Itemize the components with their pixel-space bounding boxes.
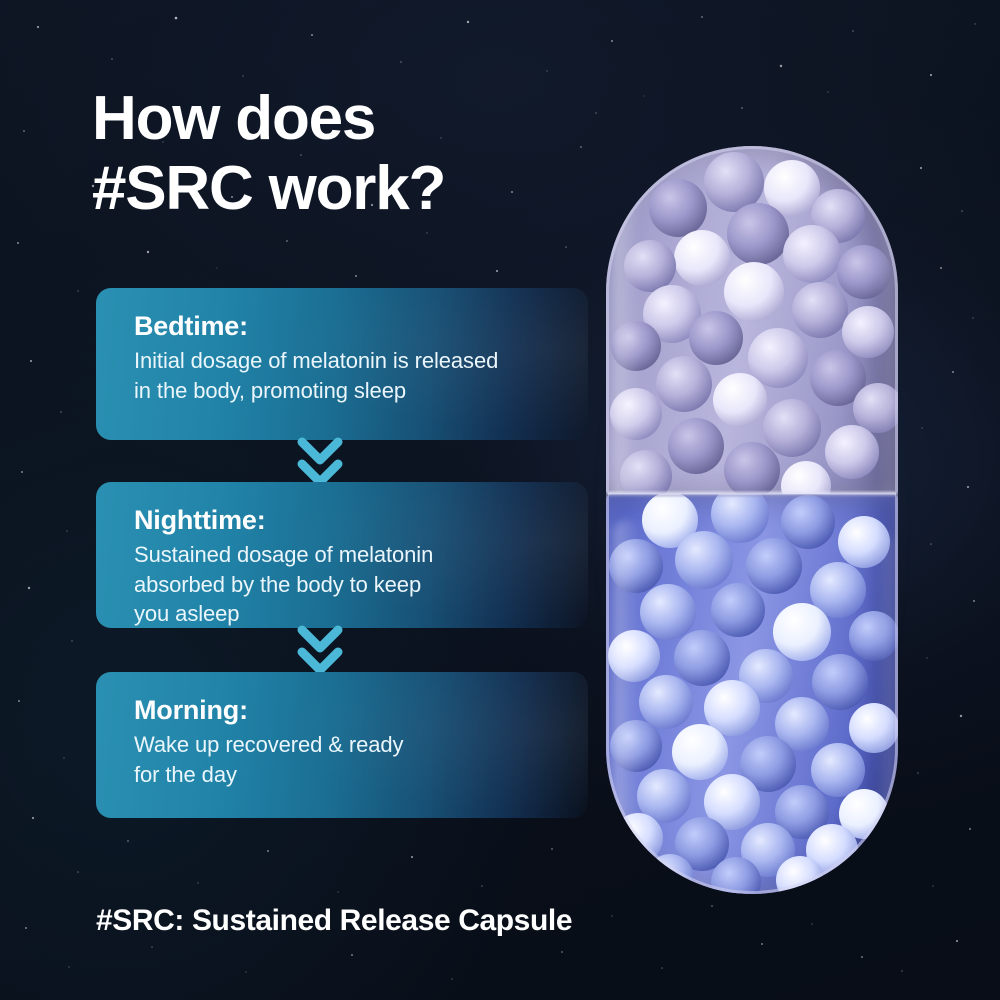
capsule-gloss-right-bottom: [876, 534, 894, 894]
capsule-gloss-left-bottom: [614, 520, 640, 894]
capsule-top-half: [606, 146, 898, 496]
step-card-morning[interactable]: Morning: Wake up recovered & ready for t…: [96, 672, 588, 818]
capsule-top-beads: [606, 146, 898, 496]
capsule-seam: [608, 490, 896, 498]
step-card-title: Nighttime:: [134, 504, 562, 536]
capsule-gloss-left: [614, 172, 640, 496]
footer-caption: #SRC: Sustained Release Capsule: [96, 904, 572, 938]
step-card-title: Bedtime:: [134, 310, 562, 342]
step-card-bedtime[interactable]: Bedtime: Initial dosage of melatonin is …: [96, 288, 588, 440]
capsule-bottom-beads: [606, 494, 898, 894]
capsule-gloss-right: [876, 186, 894, 496]
capsule-illustration: [606, 146, 898, 894]
step-card-nighttime[interactable]: Nighttime: Sustained dosage of melatonin…: [96, 482, 588, 628]
step-card-body: Wake up recovered & ready for the day: [134, 730, 562, 789]
page-title: How does #SRC work?: [92, 84, 592, 224]
page-title-line-1: How does: [92, 84, 375, 153]
infographic-canvas: How does #SRC work? Bedtime: Initial dos…: [0, 0, 1000, 1000]
step-card-body: Sustained dosage of melatonin absorbed b…: [134, 540, 562, 628]
step-card-body: Initial dosage of melatonin is released …: [134, 346, 562, 405]
step-card-title: Morning:: [134, 694, 562, 726]
capsule-bottom-half: [606, 494, 898, 894]
page-title-line-2: #SRC work?: [92, 154, 592, 224]
